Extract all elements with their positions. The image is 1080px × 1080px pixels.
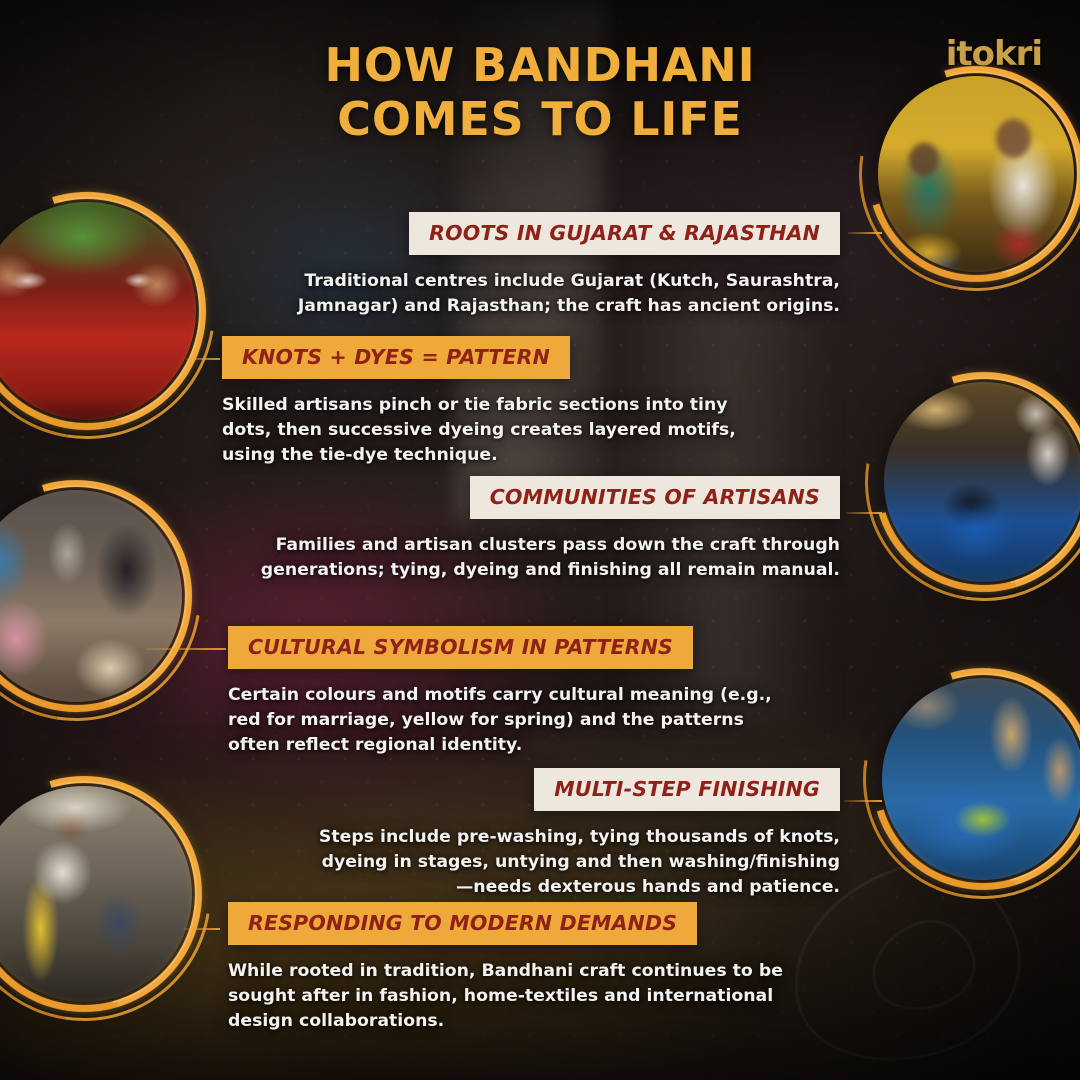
photo-women-with-tied-fabric	[0, 490, 182, 702]
infographic-poster: itokri HOW BANDHANI COMES TO LIFE	[0, 0, 1080, 1080]
photo-women-tying-knots	[878, 76, 1074, 272]
section-heading-multi-step-finishing: MULTI-STEP FINISHING	[534, 768, 840, 811]
section-roots: ROOTS IN GUJARAT & RAJASTHAN Traditional…	[240, 212, 840, 319]
section-heading-communities: COMMUNITIES OF ARTISANS	[470, 476, 840, 519]
section-multi-step-finishing: MULTI-STEP FINISHING Steps include pre-w…	[318, 768, 840, 900]
section-heading-cultural-symbolism: CULTURAL SYMBOLISM IN PATTERNS	[228, 626, 693, 669]
section-heading-modern-demands: RESPONDING TO MODERN DEMANDS	[228, 902, 697, 945]
photo-artisan-dyeing-tub	[884, 382, 1080, 582]
photo-lifting-yellow-cloth	[0, 786, 192, 1002]
section-body-cultural-symbolism: Certain colours and motifs carry cultura…	[228, 683, 780, 758]
connector-tick-4	[846, 512, 882, 514]
connector-tick-3	[146, 648, 226, 650]
section-body-roots: Traditional centres include Gujarat (Kut…	[240, 269, 840, 319]
connector-tick-1	[848, 232, 882, 234]
section-cultural-symbolism: CULTURAL SYMBOLISM IN PATTERNS Certain c…	[228, 626, 780, 758]
section-body-knots-dyes: Skilled artisans pinch or tie fabric sec…	[222, 393, 746, 468]
section-heading-roots: ROOTS IN GUJARAT & RAJASTHAN	[409, 212, 840, 255]
section-heading-knots-dyes: KNOTS + DYES = PATTERN	[222, 336, 570, 379]
connector-tick-5	[844, 800, 882, 802]
photo-indigo-dye-vat	[882, 678, 1080, 880]
section-body-communities: Families and artisan clusters pass down …	[232, 533, 840, 583]
section-knots-dyes: KNOTS + DYES = PATTERN Skilled artisans …	[222, 336, 746, 468]
section-body-modern-demands: While rooted in tradition, Bandhani craf…	[228, 959, 788, 1034]
section-modern-demands: RESPONDING TO MODERN DEMANDS While roote…	[228, 902, 788, 1034]
connector-tick-2	[186, 358, 220, 360]
connector-tick-6	[184, 928, 220, 930]
section-body-multi-step-finishing: Steps include pre-washing, tying thousan…	[318, 825, 840, 900]
photo-hands-tying-red-cloth	[0, 202, 196, 420]
section-communities: COMMUNITIES OF ARTISANS Families and art…	[232, 476, 840, 583]
